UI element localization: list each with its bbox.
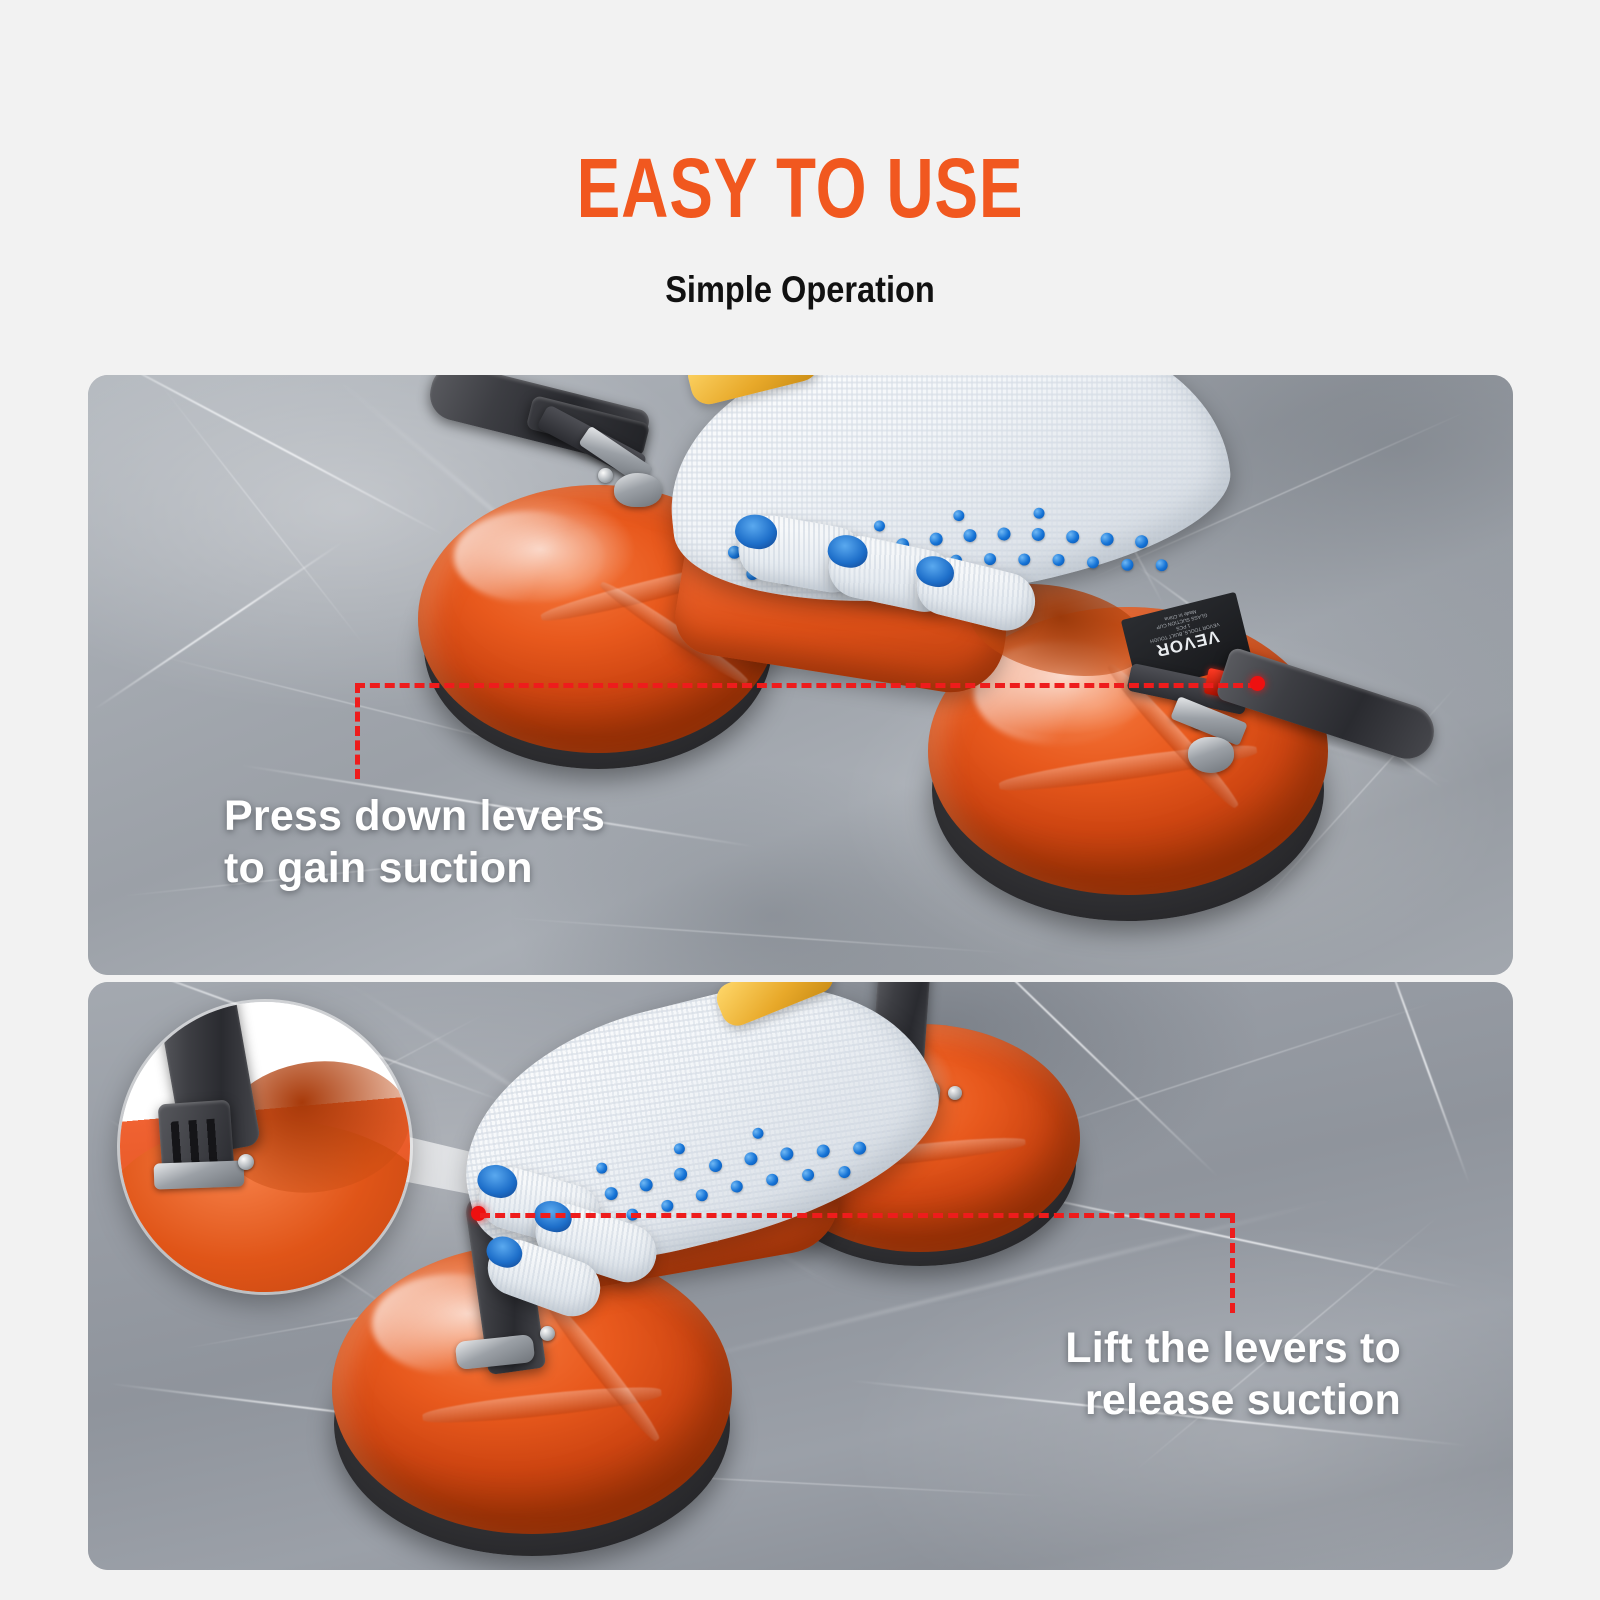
callout-line-vertical-2 — [1230, 1213, 1235, 1313]
callout-line-horizontal-2 — [480, 1213, 1230, 1218]
lever-pivot-front — [540, 1326, 555, 1341]
callout-line-horizontal-1 — [355, 683, 1258, 688]
dome-highlight-left — [454, 511, 604, 603]
lever-foot-left — [614, 473, 662, 507]
lever-handle-right — [1215, 646, 1441, 765]
lever-foot-right — [1188, 737, 1234, 773]
lever-pivot-left — [598, 468, 613, 483]
lever-pivot-back — [948, 1086, 962, 1100]
inset-lever-slots — [171, 1118, 222, 1165]
inset-lever-foot — [154, 1160, 245, 1189]
lever-right — [1108, 655, 1428, 805]
magnifier-inset — [120, 1002, 410, 1292]
inset-lever-pivot — [238, 1154, 254, 1170]
callout-line-vertical-1 — [355, 683, 360, 779]
step-2-caption: Lift the levers to release suction — [1065, 1322, 1401, 1426]
header: EASY TO USE Simple Operation — [0, 0, 1600, 375]
callout-endpoint-dot-1 — [1250, 676, 1265, 691]
page-title: EASY TO USE — [176, 146, 1424, 230]
page-subtitle: Simple Operation — [96, 268, 1504, 312]
step-2-image-panel: Lift the levers to release suction — [88, 982, 1513, 1570]
step-1-image-panel: VEVOR TOOLS, BUILT TOUGH 1 PCS GLASS SUC… — [88, 375, 1513, 975]
step-1-caption: Press down levers to gain suction — [224, 790, 605, 894]
